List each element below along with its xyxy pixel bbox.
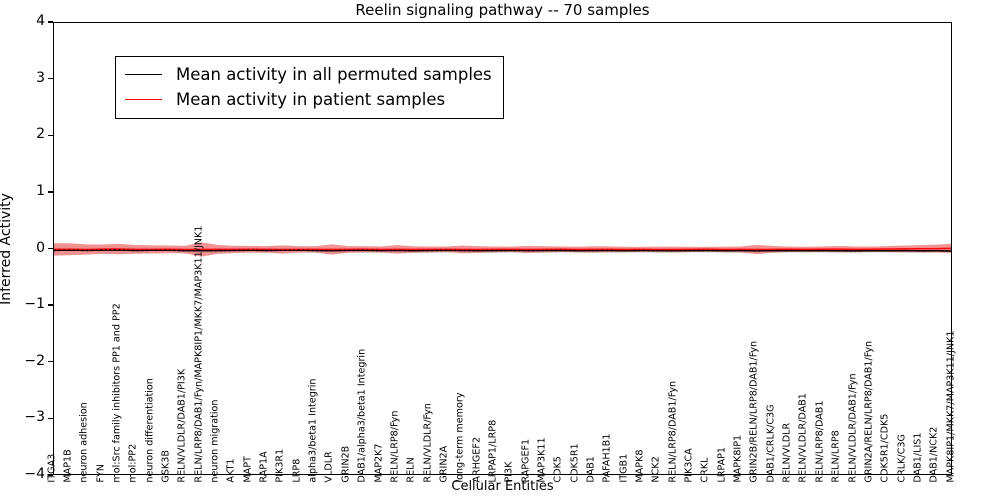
x-axis-label: Cellular Entities [53,479,952,494]
legend-item[interactable]: Mean activity in all permuted samples [125,62,492,87]
legend-label: Mean activity in all permuted samples [176,65,492,84]
y-tick-mark [48,361,53,362]
chart-legend: Mean activity in all permuted samples Me… [115,56,504,119]
y-tick-label: 1 [36,183,45,199]
legend-swatch-permuted [125,74,162,75]
y-tick-mark [48,21,53,22]
y-tick-mark [48,304,53,305]
legend-item[interactable]: Mean activity in patient samples [125,87,492,112]
y-tick-label: −4 [24,466,45,482]
y-tick-mark [48,248,53,249]
y-tick-mark [48,78,53,79]
chart-figure: Reelin signaling pathway -- 70 samples I… [0,0,1000,500]
chart-title: Reelin signaling pathway -- 70 samples [53,1,952,19]
y-tick-label: −3 [24,409,45,425]
y-tick-label: 2 [36,126,45,142]
y-axis-label: Inferred Activity [0,193,14,305]
y-tick-label: 0 [36,240,45,256]
plot-area: Mean activity in all permuted samples Me… [53,22,952,475]
y-tick-label: 3 [36,70,45,86]
y-tick-mark [48,191,53,192]
y-tick-label: −2 [24,353,45,369]
legend-swatch-patient [125,99,162,100]
y-tick-mark [48,474,53,475]
legend-label: Mean activity in patient samples [176,90,445,109]
y-tick-mark [48,135,53,136]
y-tick-mark [48,418,53,419]
y-tick-label: −1 [24,296,45,312]
y-tick-label: 4 [36,13,45,29]
